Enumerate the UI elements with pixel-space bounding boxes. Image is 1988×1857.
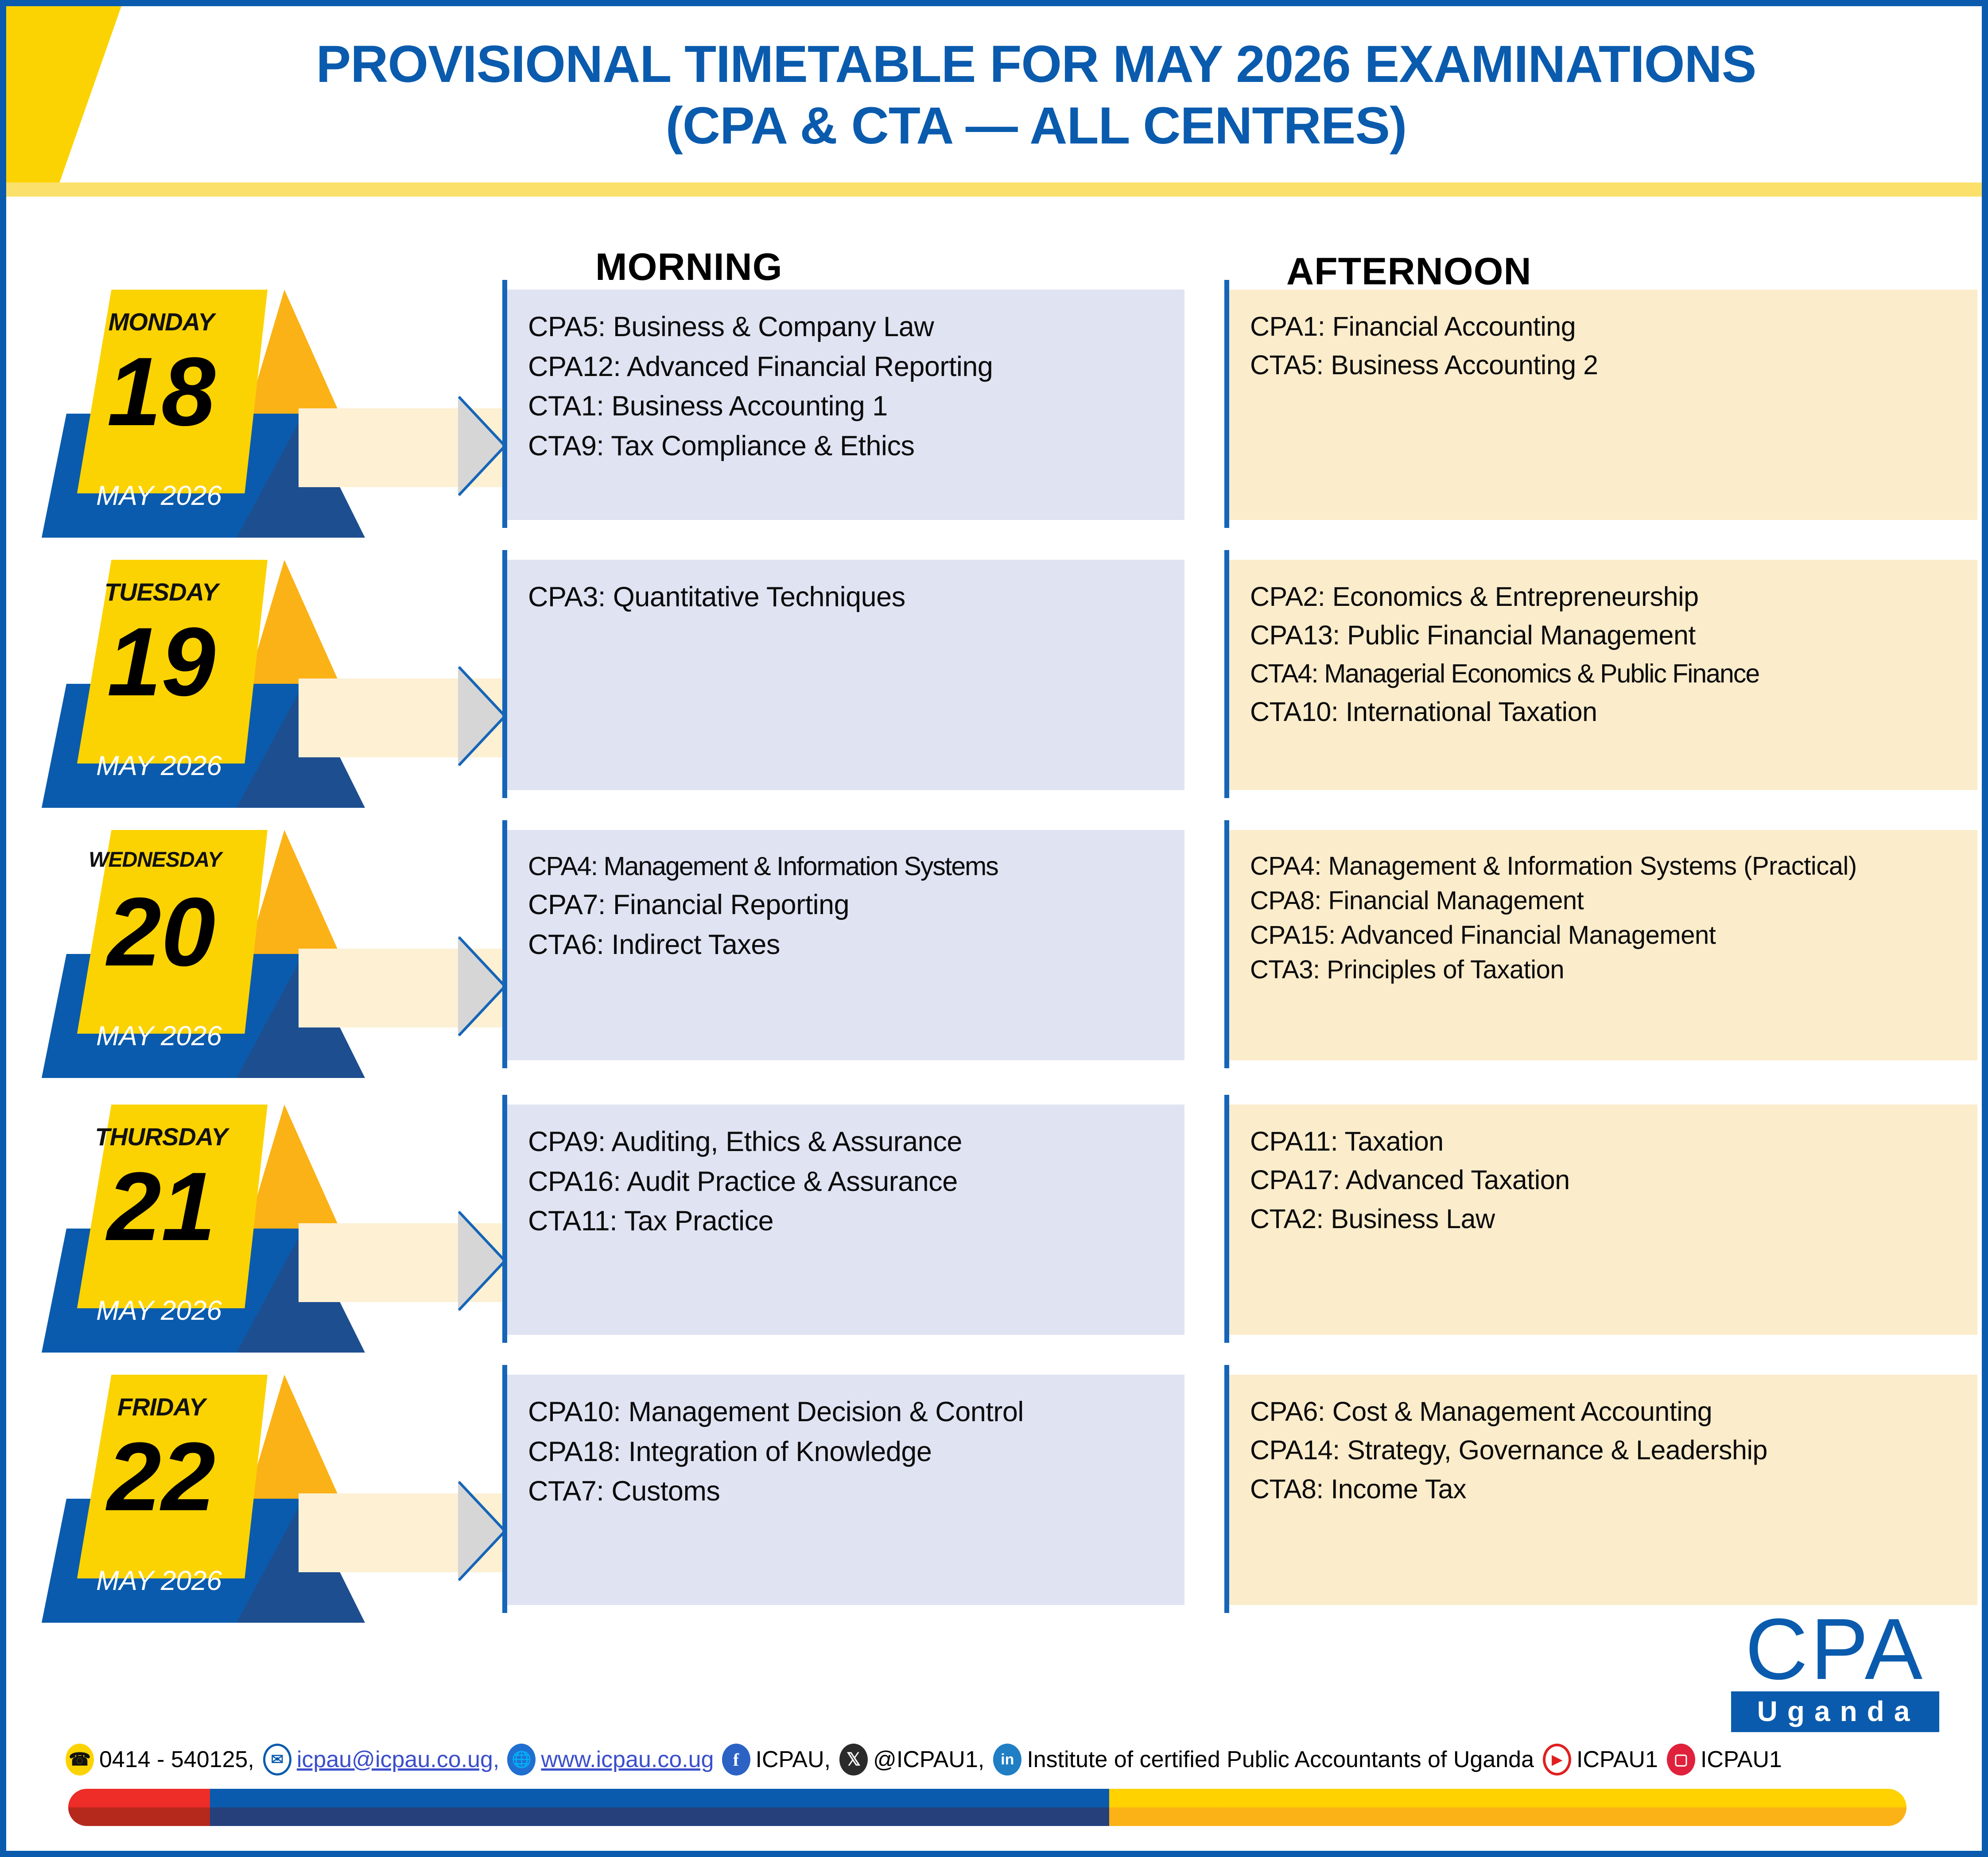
calendar-day-number: 19: [68, 613, 254, 710]
column-header-afternoon: AFTERNOON: [1286, 250, 1532, 294]
panel-left-rail: [502, 550, 507, 798]
exam-line: CTA4: Managerial Economics & Public Fina…: [1250, 659, 1960, 689]
instagram-icon[interactable]: ▢: [1667, 1744, 1695, 1776]
panel-left-rail: [1224, 1095, 1229, 1343]
chevron-right-icon: [458, 1210, 507, 1312]
chevron-right-icon: [458, 395, 507, 497]
footer-contact-strip: ☎ 0414 - 540125, ✉ icpau@icpau.co.ug, 🌐 …: [59, 1739, 1785, 1780]
calendar-month-label: MAY 2026: [55, 480, 263, 512]
contact-website[interactable]: www.icpau.co.ug: [541, 1746, 714, 1773]
phone-icon: ☎: [66, 1744, 94, 1776]
exam-line: CTA10: International Taxation: [1250, 696, 1960, 728]
column-header-morning: MORNING: [595, 245, 783, 289]
cpa-uganda-logo: CPA Uganda: [1731, 1608, 1939, 1732]
afternoon-exams-tuesday: CPA2: Economics & Entrepreneurship CPA13…: [1229, 560, 1977, 790]
exam-line: CPA17: Advanced Taxation: [1250, 1164, 1960, 1196]
globe-icon: 🌐: [507, 1744, 536, 1776]
facebook-icon[interactable]: f: [722, 1744, 750, 1776]
calendar-day-number: 22: [68, 1428, 254, 1525]
exam-line: CTA3: Principles of Taxation: [1250, 955, 1960, 985]
afternoon-exams-monday: CPA1: Financial Accounting CTA5: Busines…: [1229, 290, 1977, 520]
exam-line: CTA7: Customs: [528, 1475, 1167, 1508]
exam-line: CPA1: Financial Accounting: [1250, 311, 1960, 342]
calendar-month-label: MAY 2026: [55, 1565, 263, 1597]
panel-left-rail: [502, 1365, 507, 1613]
contact-linkedin: Institute of certified Public Accountant…: [1027, 1746, 1534, 1773]
calendar-month-label: MAY 2026: [55, 1295, 263, 1326]
day-row-tuesday: TUESDAY 19 MAY 2026 CPA3: Quantitative T…: [6, 560, 1982, 826]
contact-instagram: ICPAU1: [1701, 1746, 1782, 1773]
calendar-day-name: MONDAY: [73, 307, 250, 336]
exam-line: CPA4: Management & Information Systems (…: [1250, 851, 1960, 881]
day-row-monday: MONDAY 18 MAY 2026 CPA5: Business & Comp…: [6, 290, 1982, 555]
day-row-friday: FRIDAY 22 MAY 2026 CPA10: Management Dec…: [6, 1375, 1982, 1640]
exam-line: CPA12: Advanced Financial Reporting: [528, 351, 1167, 384]
calendar-day-number: 18: [68, 343, 254, 440]
exam-line: CPA18: Integration of Knowledge: [528, 1436, 1167, 1469]
logo-secondary-text: Uganda: [1731, 1691, 1939, 1732]
panel-left-rail: [502, 1095, 507, 1343]
header-yellow-wedge-decoration: [6, 6, 121, 197]
calendar-day-name: THURSDAY: [73, 1122, 250, 1151]
exam-line: CPA10: Management Decision & Control: [528, 1396, 1167, 1429]
linkedin-icon[interactable]: in: [993, 1744, 1021, 1776]
ribbon-segment-blue: [210, 1789, 1109, 1826]
exam-line: CTA1: Business Accounting 1: [528, 390, 1167, 423]
calendar-month-label: MAY 2026: [55, 1020, 263, 1052]
afternoon-exams-friday: CPA6: Cost & Management Accounting CPA14…: [1229, 1375, 1977, 1605]
morning-exams-friday: CPA10: Management Decision & Control CPA…: [507, 1375, 1184, 1605]
bottom-color-ribbon: [68, 1789, 1906, 1826]
exam-line: CPA14: Strategy, Governance & Leadership: [1250, 1434, 1960, 1466]
calendar-day-name: FRIDAY: [73, 1392, 250, 1421]
panel-left-rail: [502, 820, 507, 1068]
exam-line: CPA5: Business & Company Law: [528, 311, 1167, 344]
exam-timetable-poster: PROVISIONAL TIMETABLE FOR MAY 2026 EXAMI…: [0, 0, 1988, 1857]
exam-line: CPA15: Advanced Financial Management: [1250, 920, 1960, 950]
chevron-right-icon: [458, 665, 507, 767]
exam-line: CPA13: Public Financial Management: [1250, 620, 1960, 651]
day-row-wednesday: WEDNESDAY 20 MAY 2026 CPA4: Management &…: [6, 830, 1982, 1096]
exam-line: CTA6: Indirect Taxes: [528, 929, 1167, 961]
exam-line: CTA5: Business Accounting 2: [1250, 349, 1960, 381]
exam-line: CPA3: Quantitative Techniques: [528, 581, 1167, 614]
panel-left-rail: [502, 280, 507, 528]
morning-exams-monday: CPA5: Business & Company Law CPA12: Adva…: [507, 290, 1184, 520]
calendar-day-number: 21: [68, 1158, 254, 1255]
exam-line: CPA7: Financial Reporting: [528, 889, 1167, 922]
x-twitter-icon[interactable]: 𝕏: [839, 1744, 868, 1776]
exam-line: CTA8: Income Tax: [1250, 1473, 1960, 1505]
envelope-icon: ✉: [263, 1744, 291, 1776]
exam-line: CPA16: Audit Practice & Assurance: [528, 1166, 1167, 1198]
exam-line: CPA9: Auditing, Ethics & Assurance: [528, 1126, 1167, 1159]
exam-line: CPA6: Cost & Management Accounting: [1250, 1396, 1960, 1427]
poster-header: PROVISIONAL TIMETABLE FOR MAY 2026 EXAMI…: [6, 6, 1982, 197]
contact-facebook: ICPAU,: [756, 1746, 831, 1773]
exam-line: CPA11: Taxation: [1250, 1126, 1960, 1157]
chevron-right-icon: [458, 935, 507, 1037]
panel-left-rail: [1224, 550, 1229, 798]
panel-left-rail: [1224, 1365, 1229, 1613]
day-row-thursday: THURSDAY 21 MAY 2026 CPA9: Auditing, Eth…: [6, 1105, 1982, 1370]
contact-youtube: ICPAU1: [1576, 1746, 1658, 1773]
youtube-icon[interactable]: ▶: [1543, 1744, 1571, 1776]
morning-exams-wednesday: CPA4: Management & Information Systems C…: [507, 830, 1184, 1060]
exam-line: CTA11: Tax Practice: [528, 1205, 1167, 1238]
calendar-month-label: MAY 2026: [55, 750, 263, 782]
header-yellow-band-divider: [6, 182, 1982, 197]
contact-phone: 0414 - 540125,: [99, 1746, 254, 1773]
exam-line: CTA2: Business Law: [1250, 1203, 1960, 1235]
calendar-day-name: TUESDAY: [73, 578, 250, 606]
calendar-day-number: 20: [68, 883, 254, 981]
exam-line: CTA9: Tax Compliance & Ethics: [528, 430, 1167, 463]
afternoon-exams-wednesday: CPA4: Management & Information Systems (…: [1229, 830, 1977, 1060]
panel-left-rail: [1224, 820, 1229, 1068]
morning-exams-thursday: CPA9: Auditing, Ethics & Assurance CPA16…: [507, 1105, 1184, 1335]
exam-line: CPA2: Economics & Entrepreneurship: [1250, 581, 1960, 613]
page-title: PROVISIONAL TIMETABLE FOR MAY 2026 EXAMI…: [121, 34, 1951, 157]
morning-exams-tuesday: CPA3: Quantitative Techniques: [507, 560, 1184, 790]
page-title-line-1: PROVISIONAL TIMETABLE FOR MAY 2026 EXAMI…: [316, 35, 1756, 93]
page-title-line-2: (CPA & CTA — ALL CENTRES): [121, 95, 1951, 157]
ribbon-segment-yellow: [1109, 1789, 1906, 1826]
chevron-right-icon: [458, 1480, 507, 1582]
logo-primary-text: CPA: [1731, 1608, 1939, 1690]
contact-email[interactable]: icpau@icpau.co.ug,: [297, 1746, 500, 1773]
exam-line: CPA8: Financial Management: [1250, 886, 1960, 916]
ribbon-segment-red: [68, 1789, 210, 1826]
afternoon-exams-thursday: CPA11: Taxation CPA17: Advanced Taxation…: [1229, 1105, 1977, 1335]
panel-left-rail: [1224, 280, 1229, 528]
exam-line: CPA4: Management & Information Systems: [528, 851, 1167, 882]
calendar-day-name: WEDNESDAY: [66, 848, 244, 872]
contact-twitter: @ICPAU1,: [873, 1746, 984, 1773]
